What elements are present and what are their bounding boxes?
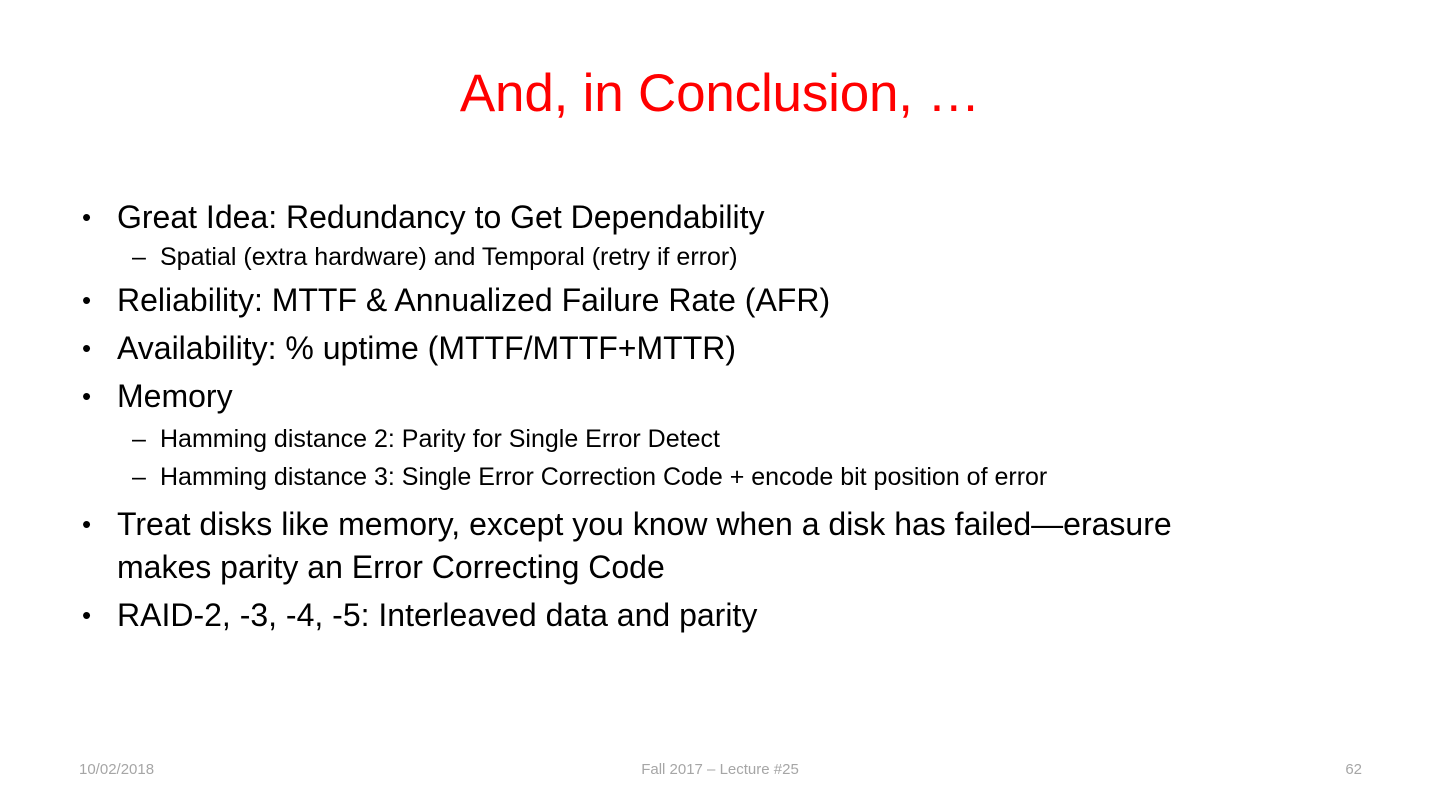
bullet-list: • Great Idea: Redundancy to Get Dependab… (70, 196, 1370, 639)
bullet-dash-icon: – (70, 423, 160, 456)
bullet-dot-icon: • (70, 375, 117, 418)
bullet-dash-icon: – (70, 241, 160, 274)
bullet-dot-icon: • (70, 503, 117, 546)
list-item-label: Reliability: MTTF & Annualized Failure R… (117, 279, 1252, 322)
list-item-label: Hamming distance 3: Single Error Correct… (160, 461, 1370, 494)
list-item: – Spatial (extra hardware) and Temporal … (70, 241, 1370, 274)
footer-course-label: Fall 2017 – Lecture #25 (0, 760, 1440, 780)
list-item-label: Great Idea: Redundancy to Get Dependabil… (117, 196, 1252, 239)
list-item: • Reliability: MTTF & Annualized Failure… (70, 279, 1370, 322)
slide-footer: 10/02/2018 Fall 2017 – Lecture #25 62 (0, 760, 1440, 790)
bullet-dot-icon: • (70, 327, 117, 370)
list-item-label: RAID-2, -3, -4, -5: Interleaved data and… (117, 594, 1252, 637)
list-item-label: Availability: % uptime (MTTF/MTTF+MTTR) (117, 327, 1252, 370)
list-item: • RAID-2, -3, -4, -5: Interleaved data a… (70, 594, 1370, 637)
slide-canvas: And, in Conclusion, … • Great Idea: Redu… (0, 0, 1440, 810)
list-item: – Hamming distance 2: Parity for Single … (70, 423, 1370, 456)
list-item: • Great Idea: Redundancy to Get Dependab… (70, 196, 1370, 239)
slide-number: 62 (1345, 760, 1362, 780)
page-title: And, in Conclusion, … (0, 64, 1440, 123)
list-item-label: Treat disks like memory, except you know… (117, 503, 1252, 589)
list-item: – Hamming distance 3: Single Error Corre… (70, 461, 1370, 494)
list-item: • Treat disks like memory, except you kn… (70, 503, 1370, 589)
list-item: • Memory (70, 375, 1370, 418)
bullet-dot-icon: • (70, 594, 117, 637)
bullet-dash-icon: – (70, 461, 160, 494)
bullet-dot-icon: • (70, 279, 117, 322)
bullet-dot-icon: • (70, 196, 117, 239)
list-item-label: Hamming distance 2: Parity for Single Er… (160, 423, 1370, 456)
list-item-label: Memory (117, 375, 1252, 418)
list-item: • Availability: % uptime (MTTF/MTTF+MTTR… (70, 327, 1370, 370)
list-item-label: Spatial (extra hardware) and Temporal (r… (160, 241, 1370, 274)
